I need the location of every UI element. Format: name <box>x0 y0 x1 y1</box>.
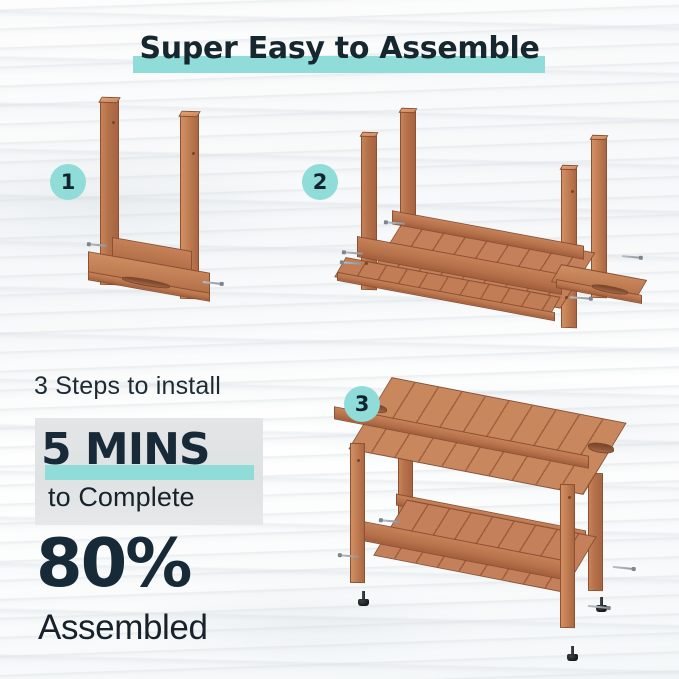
step-badge-3: 3 <box>344 386 380 422</box>
percent-value-text: 80% <box>36 530 190 597</box>
screw-hole <box>357 459 360 462</box>
percent-label-text: Assembled <box>38 608 208 648</box>
time-suffix-text: to Complete <box>48 482 195 513</box>
step-badge-1-label: 1 <box>61 172 76 193</box>
step-badge-3-label: 3 <box>355 394 370 415</box>
screw-hole <box>568 496 571 499</box>
bench-leg-front-right <box>560 484 575 628</box>
leveling-foot-icon <box>567 645 578 661</box>
step-badge-2: 2 <box>302 164 338 200</box>
time-value-text: 5 MINS <box>41 424 210 475</box>
bench-leg-front-left <box>350 443 365 583</box>
leveling-foot-icon <box>358 590 369 606</box>
steps-to-install-text: 3 Steps to install <box>34 372 221 401</box>
step-badge-2-label: 2 <box>313 172 328 193</box>
bench-leg-rear-right <box>588 473 603 591</box>
leveling-foot-icon <box>596 596 607 612</box>
screw-icon <box>613 565 635 567</box>
step-badge-1: 1 <box>50 164 86 200</box>
